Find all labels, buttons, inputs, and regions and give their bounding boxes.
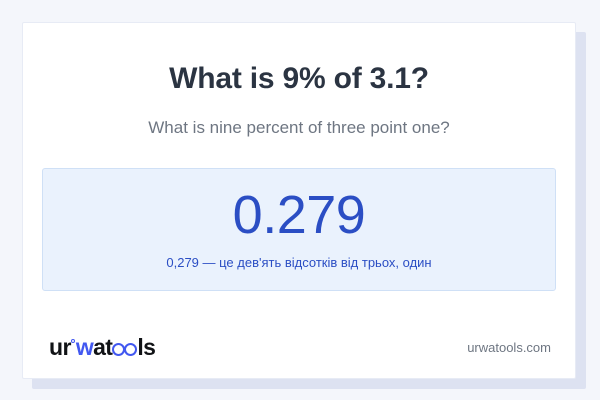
brand-glasses-icon xyxy=(112,343,137,356)
result-value: 0.279 xyxy=(233,188,366,242)
site-url[interactable]: urwatools.com xyxy=(467,341,551,354)
page-title: What is 9% of 3.1? xyxy=(42,61,556,97)
result-card: What is 9% of 3.1? What is nine percent … xyxy=(22,22,576,379)
brand-logo-part-at: at xyxy=(93,336,112,359)
brand-logo[interactable]: ur w at ls xyxy=(49,336,155,359)
page-root: What is 9% of 3.1? What is nine percent … xyxy=(0,0,600,400)
card-footer: ur w at ls urwatools.com xyxy=(23,316,575,378)
page-subtitle: What is nine percent of three point one? xyxy=(42,117,556,139)
result-box: 0.279 0,279 — це дев'ять відсотків від т… xyxy=(42,168,556,291)
brand-ring-right-icon xyxy=(124,343,137,356)
brand-logo-part-ur: ur xyxy=(49,336,71,359)
brand-logo-part-w: w xyxy=(76,336,93,359)
brand-dot-icon xyxy=(71,339,75,343)
brand-logo-part-ls: ls xyxy=(137,336,155,359)
result-caption: 0,279 — це дев'ять відсотків від трьох, … xyxy=(166,255,431,272)
card-body: What is 9% of 3.1? What is nine percent … xyxy=(23,23,575,316)
